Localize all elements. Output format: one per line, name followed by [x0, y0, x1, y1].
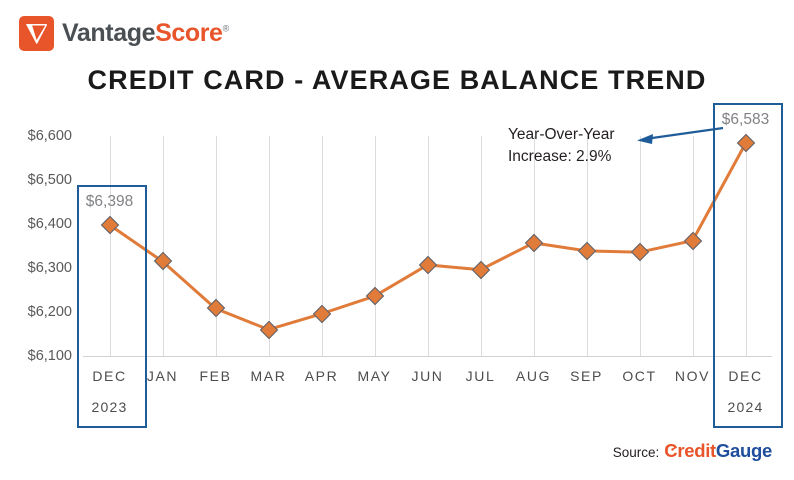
brand-name-part1: Vantage	[62, 19, 155, 47]
chart-plot-area	[83, 136, 772, 356]
dec-2024-highlight	[713, 103, 783, 428]
x-axis-line	[83, 356, 772, 357]
series-line	[110, 143, 746, 329]
x-axis-tick-label: AUG	[516, 368, 551, 384]
x-axis-tick-label: MAY	[357, 368, 391, 384]
data-point-value-label: $6,583	[722, 111, 769, 129]
data-point-value-label: $6,398	[86, 193, 133, 211]
brand-trademark: ®	[223, 24, 229, 34]
source-prefix: Source:	[613, 445, 660, 460]
gauge-needle-icon	[668, 445, 677, 454]
dec-2023-highlight	[77, 185, 147, 428]
y-axis-tick-label: $6,500	[2, 172, 72, 188]
y-axis-tick-label: $6,100	[2, 348, 72, 364]
source-brand-part2: Gauge	[716, 440, 772, 461]
line-series	[83, 136, 772, 356]
y-axis-labels: $6,600$6,500$6,400$6,300$6,200$6,100	[0, 0, 72, 480]
y-axis-tick-label: $6,200	[2, 304, 72, 320]
y-axis-tick-label: $6,600	[2, 128, 72, 144]
x-axis-tick-label: OCT	[622, 368, 656, 384]
left-arrow-icon	[627, 126, 727, 150]
source-attribution: Source: CreditGauge	[613, 440, 772, 462]
x-axis-tick-label: SEP	[570, 368, 603, 384]
x-axis-tick-label: MAR	[251, 368, 287, 384]
yoy-annotation-line1: Year-Over-Year	[508, 124, 615, 146]
x-axis-tick-label: FEB	[199, 368, 231, 384]
x-axis-tick-label: JAN	[147, 368, 178, 384]
creditgauge-logo: CreditGauge	[664, 440, 772, 462]
yoy-annotation: Year-Over-Year Increase: 2.9%	[508, 124, 615, 169]
x-axis-tick-label: APR	[305, 368, 339, 384]
chart-page: VantageScore® CREDIT CARD - AVERAGE BALA…	[0, 0, 794, 480]
vantagescore-wordmark: VantageScore®	[62, 21, 229, 46]
page-title: CREDIT CARD - AVERAGE BALANCE TREND	[0, 65, 794, 96]
x-axis-tick-label: NOV	[675, 368, 710, 384]
yoy-annotation-line2: Increase: 2.9%	[508, 146, 615, 168]
x-axis-tick-label: JUL	[466, 368, 496, 384]
brand-name-part2: Score	[155, 19, 222, 47]
y-axis-tick-label: $6,400	[2, 216, 72, 232]
y-axis-tick-label: $6,300	[2, 260, 72, 276]
x-axis-tick-label: JUN	[411, 368, 443, 384]
